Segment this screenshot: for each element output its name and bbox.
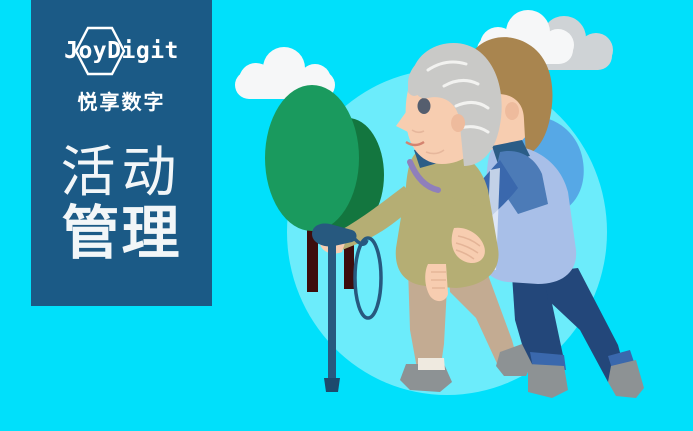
poster-canvas: JoyDigit 悦享数字 活动 管理 <box>0 0 693 431</box>
brand-logo: JoyDigit <box>48 26 196 76</box>
woman-ear <box>451 114 465 132</box>
woman-eye <box>418 98 431 114</box>
woman-sock <box>418 358 445 370</box>
illustration-scene <box>212 0 693 431</box>
page-title-line1: 活动 <box>60 140 182 204</box>
man-back-shoe <box>528 364 568 398</box>
cane-shaft <box>328 240 336 385</box>
page-title: 活动 管理 <box>60 143 182 264</box>
left-banner-panel: JoyDigit 悦享数字 活动 管理 <box>31 0 212 306</box>
man-ear <box>505 102 519 120</box>
brand-wordmark: JoyDigit <box>64 40 179 63</box>
page-title-line2: 管理 <box>60 202 182 264</box>
brand-subtitle: 悦享数字 <box>78 86 166 115</box>
man-front-shoe <box>608 360 644 398</box>
cane-tip <box>324 378 340 392</box>
